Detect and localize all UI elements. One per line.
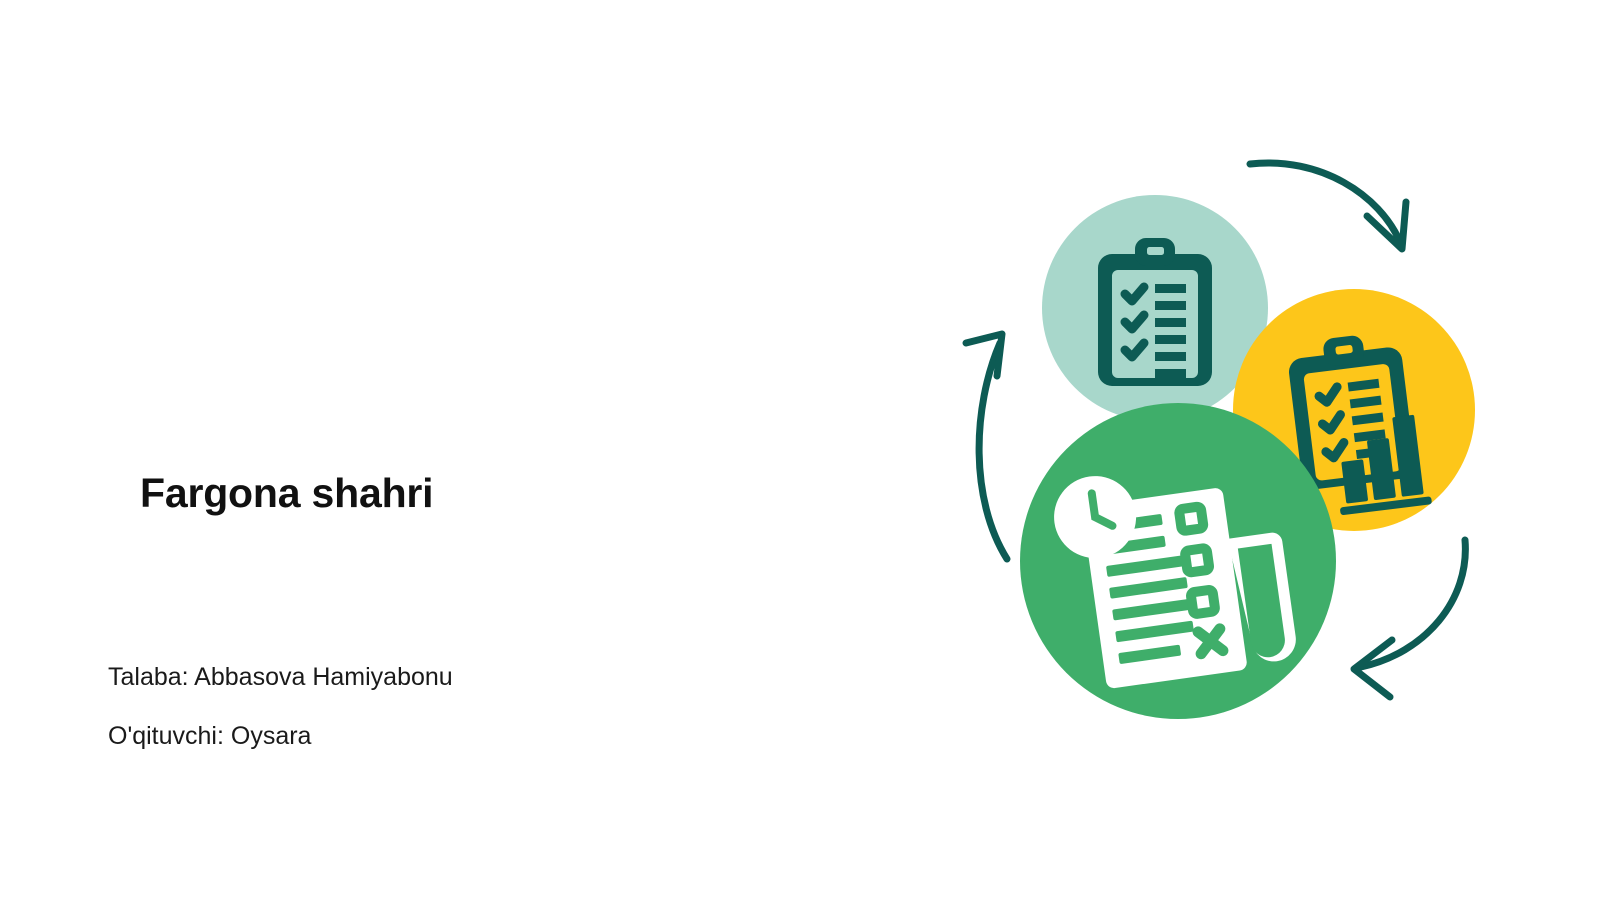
arrow-bottom-right-icon [1354, 540, 1465, 697]
arrow-left-up-icon [966, 334, 1007, 559]
three-circle-cycle-illustration [930, 120, 1530, 740]
arrow-top-right-icon [1250, 163, 1406, 249]
slide-canvas: Fargona shahri Talaba: Abbasova Hamiyabo… [0, 0, 1600, 900]
page-title: Fargona shahri [140, 470, 433, 517]
title-text-block: Fargona shahri Talaba: Abbasova Hamiyabo… [0, 0, 860, 900]
subtitle-teacher: O'qituvchi: Oysara [108, 721, 311, 751]
subtitle-student: Talaba: Abbasova Hamiyabonu [108, 662, 453, 692]
